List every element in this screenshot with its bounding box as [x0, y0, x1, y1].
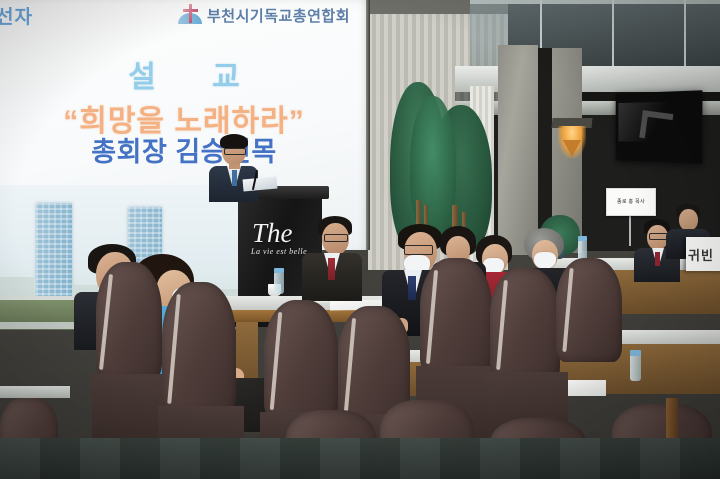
podium-brand-script: The	[252, 218, 293, 249]
slide-title: 설 교	[0, 52, 368, 96]
cross-horizontal	[183, 9, 198, 12]
bottle-cap	[274, 268, 284, 273]
glass-mullion	[684, 0, 686, 66]
organization-name: 부천시기독교총연합회	[207, 5, 350, 26]
floor-tiles	[0, 438, 720, 479]
cross-vertical	[189, 4, 192, 23]
necktie	[655, 252, 660, 266]
glasses-icon	[404, 245, 433, 255]
water-bottle	[274, 272, 284, 294]
necktie	[408, 276, 416, 300]
document-on-table	[562, 380, 606, 396]
bottle-cap	[630, 350, 641, 356]
slide-corner-text: 선자	[0, 2, 33, 29]
face-mask	[534, 252, 556, 269]
glasses-icon	[224, 148, 246, 155]
table-placard-center: 종로 홍 목사	[606, 188, 656, 216]
necktie	[328, 258, 335, 280]
left-table-top	[0, 386, 70, 398]
speaker-necktie	[232, 170, 237, 186]
monitor-graphic	[639, 110, 673, 142]
glasses-icon	[324, 234, 348, 242]
organization-logo: 부천시기독교총연합회	[178, 4, 350, 26]
bottle-cap	[578, 236, 587, 241]
ceiling-beam	[455, 66, 720, 92]
mezzanine-handrail	[470, 0, 720, 4]
conference-photo: 선자 부천시기독교총연합회 설 교 “희망을 노래하라” 총회장 김승민목 귀빈…	[0, 0, 720, 479]
wall-monitor-icon	[616, 90, 703, 164]
podium-tagline: La vie est belle	[251, 247, 307, 256]
stone-column	[498, 45, 538, 255]
vip-placard-label: 귀빈	[688, 245, 714, 264]
slide-speaker-line: 총회장 김승민목	[0, 130, 368, 169]
glass-mullion	[612, 0, 614, 66]
water-bottle	[630, 355, 641, 381]
sconce-cone	[563, 140, 581, 157]
tower-left	[36, 203, 72, 303]
cross-with-swoosh-icon	[178, 4, 202, 26]
water-bottle	[578, 240, 587, 260]
speaker-hair	[220, 134, 248, 149]
person-head	[679, 209, 698, 231]
